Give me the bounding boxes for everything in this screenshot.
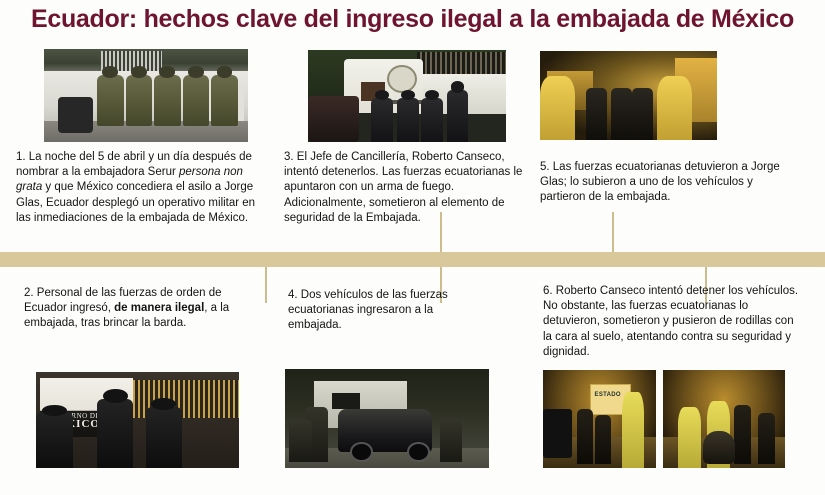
item-4-part-1: 4. Dos vehículos de las fuerzas ecuatori… <box>288 289 448 331</box>
mexico-emblem-icon <box>387 65 417 93</box>
motorcycle <box>58 97 93 132</box>
officer-figure <box>146 407 183 468</box>
page-title: Ecuador: hechos clave del ingreso ilegal… <box>0 4 825 34</box>
walking-figure <box>440 419 462 463</box>
dark-figure <box>758 413 775 464</box>
photo-embassy-gate-content <box>308 50 506 142</box>
decorative-grille <box>125 380 239 418</box>
police-figure <box>447 90 469 142</box>
photo-soldiers-wall-content <box>44 49 248 142</box>
photo-embassy-gate-police <box>308 50 506 142</box>
yellow-vest-figure <box>622 392 643 468</box>
timeline-item-1-text: 1. La noche del 5 de abril y un día desp… <box>16 150 264 226</box>
photo-soldiers-wall <box>44 49 248 142</box>
police-figure <box>421 98 443 142</box>
photo-6a-content: ESTADO <box>543 370 656 468</box>
dark-figure <box>734 405 751 464</box>
dark-figure <box>611 88 632 140</box>
dark-figure <box>577 409 593 464</box>
photo-suv-content <box>285 369 489 468</box>
suv-wheel <box>350 442 372 462</box>
soldier-figure <box>97 75 124 126</box>
officer-figure <box>36 412 73 468</box>
soldier-figure <box>211 75 238 126</box>
parked-vehicle <box>308 96 359 142</box>
street-sign-text: ESTADO <box>595 392 621 398</box>
item-3-part-1: 3. El Jefe de Cancillería, Roberto Canse… <box>284 151 522 224</box>
connector-item-3 <box>440 212 442 252</box>
photo-suv-entering-embassy <box>285 369 489 468</box>
item-2-part-2: de manera ilegal <box>114 302 204 314</box>
item-1-part-3: y que México concediera el asilo a Jorge… <box>16 181 255 223</box>
photo-6b-content <box>663 370 785 468</box>
yellow-vest-figure <box>657 76 692 140</box>
yellow-vest-figure <box>540 76 575 140</box>
timeline-item-3-text: 3. El Jefe de Cancillería, Roberto Canse… <box>284 150 524 226</box>
detained-person <box>703 431 735 464</box>
photo-canseco-detained-on-ground <box>663 370 785 468</box>
timeline-item-2-text: 2. Personal de las fuerzas de orden de E… <box>24 286 239 332</box>
infographic-page: Ecuador: hechos clave del ingreso ilegal… <box>0 0 825 495</box>
dark-figure <box>595 415 611 464</box>
dark-figure <box>586 88 607 140</box>
suv-wheel <box>407 442 429 462</box>
dark-figure <box>632 88 653 140</box>
entrance-door <box>332 393 360 409</box>
timeline-item-6-text: 6. Roberto Canseco intentó detener los v… <box>543 284 805 360</box>
parked-vehicle <box>543 409 572 458</box>
yellow-vest-figure <box>678 407 701 468</box>
photo-night-street-content <box>540 51 717 140</box>
soldier-figure <box>154 75 181 126</box>
item-5-part-1: 5. Las fuerzas ecuatorianas detuvieron a… <box>540 161 780 203</box>
connector-item-5 <box>612 212 614 252</box>
item-6-part-1: 6. Roberto Canseco intentó detener los v… <box>543 285 798 358</box>
timeline-item-4-text: 4. Dos vehículos de las fuerzas ecuatori… <box>288 288 484 334</box>
timeline-band <box>0 252 825 267</box>
photo-night-street-detention <box>540 51 717 140</box>
officer-figure <box>97 399 134 468</box>
soldier-figure <box>126 75 153 126</box>
timeline-item-5-text: 5. Las fuerzas ecuatorianas detuvieron a… <box>540 160 792 206</box>
walking-figure <box>289 420 311 462</box>
soldier-figure <box>183 75 210 126</box>
photo-banner-content: GOBIERNO DE MÉXICO <box>36 372 239 468</box>
police-figure <box>371 98 393 142</box>
connector-item-2 <box>265 267 267 303</box>
photo-canseco-street-confrontation: ESTADO <box>543 370 656 468</box>
police-figure <box>397 98 419 142</box>
photo-gobierno-de-mexico-banner: GOBIERNO DE MÉXICO <box>36 372 239 468</box>
